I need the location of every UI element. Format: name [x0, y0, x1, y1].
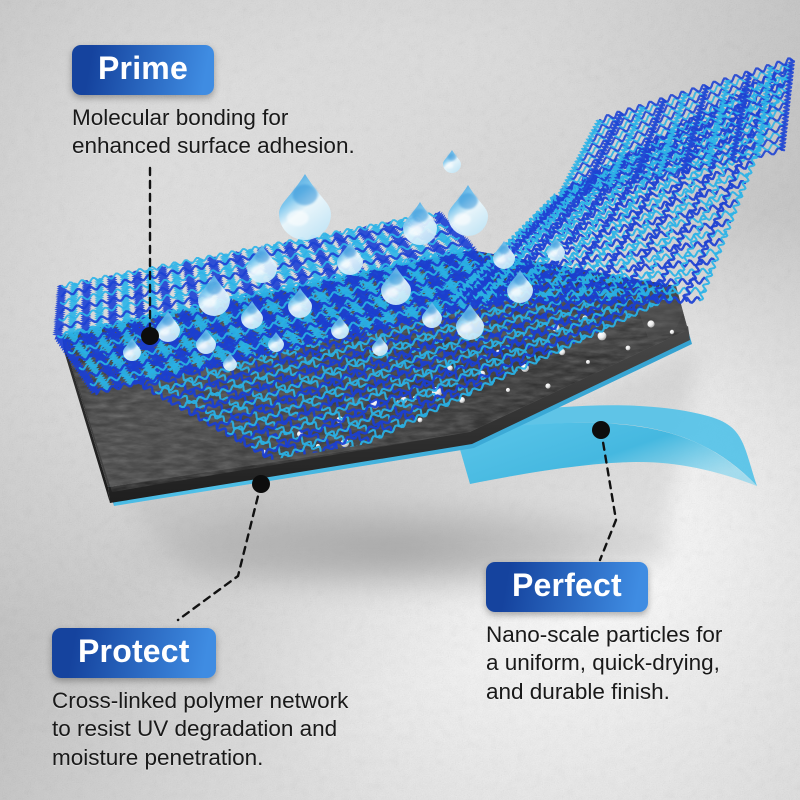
callout-prime: Prime Molecular bonding for enhanced sur…	[72, 45, 355, 161]
water-droplet	[279, 174, 331, 240]
water-droplet	[403, 202, 437, 245]
badge-prime[interactable]: Prime	[72, 45, 214, 95]
leader-dot-prime	[141, 327, 159, 345]
description-perfect: Nano-scale particles for a uniform, quic…	[486, 621, 722, 706]
infographic-canvas: Prime Molecular bonding for enhanced sur…	[0, 0, 800, 800]
water-droplet	[443, 150, 461, 173]
badge-perfect[interactable]: Perfect	[486, 562, 648, 612]
leader-dot-protect	[252, 475, 270, 493]
leader-dot-perfect	[592, 421, 610, 439]
badge-protect[interactable]: Protect	[52, 628, 216, 678]
description-prime: Molecular bonding for enhanced surface a…	[72, 104, 355, 161]
callout-protect: Protect Cross-linked polymer network to …	[52, 628, 348, 772]
callout-perfect: Perfect Nano-scale particles for a unifo…	[486, 562, 722, 706]
water-droplet	[448, 185, 488, 236]
description-protect: Cross-linked polymer network to resist U…	[52, 687, 348, 772]
